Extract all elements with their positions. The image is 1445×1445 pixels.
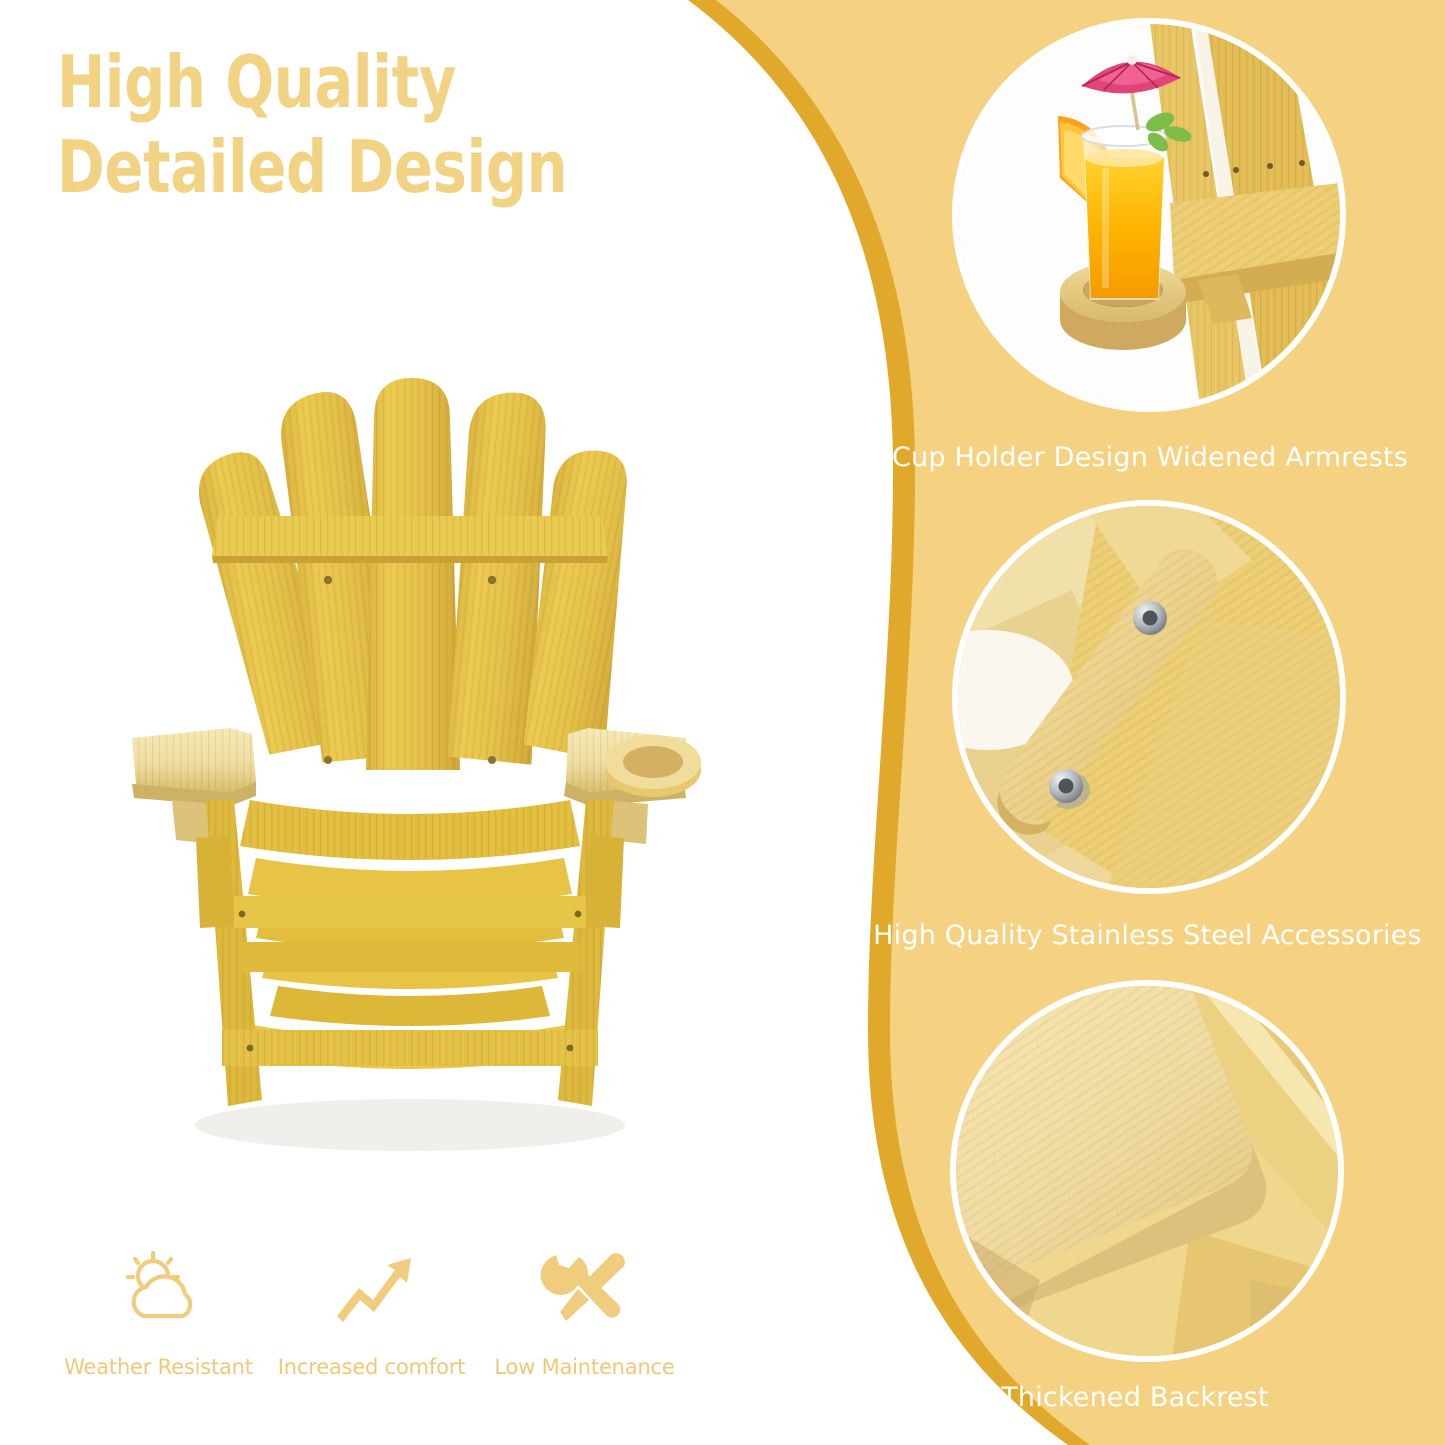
sun-cloud-icon	[116, 1245, 202, 1333]
inset-photo-thickened-backrest	[950, 980, 1344, 1362]
feature-label: Low Maintenance	[494, 1355, 674, 1379]
feature-item: Low Maintenance	[478, 1245, 691, 1379]
chair-left-armrest	[132, 728, 256, 844]
page-title: High Quality Detailed Design	[57, 40, 585, 210]
chair-backrest-slats	[192, 378, 662, 770]
inset-photo-cup-holder	[952, 18, 1346, 412]
cup-holder-ring	[605, 735, 701, 797]
feature-label: Weather Resistant	[64, 1355, 253, 1379]
inset-caption: Thickened Backrest	[900, 1382, 1370, 1413]
inset-photo-stainless-hardware	[952, 500, 1346, 894]
trend-arrow-icon	[329, 1245, 415, 1333]
chair-seat	[240, 800, 580, 1069]
feature-item: Increased comfort	[265, 1245, 478, 1379]
wrench-screwdriver-icon	[540, 1245, 630, 1333]
feature-benefit-row: Weather Resistant Increased comfort	[52, 1245, 692, 1405]
feature-label: Increased comfort	[278, 1355, 465, 1379]
inset-caption: Cup Holder Design Widened Armrests	[860, 442, 1440, 473]
inset-caption: High Quality Stainless Steel Accessories	[850, 920, 1445, 951]
feature-item: Weather Resistant	[52, 1245, 265, 1379]
poster-canvas: High Quality Detailed Design	[0, 0, 1445, 1445]
product-photo	[110, 330, 710, 1170]
chair-crossbar	[212, 516, 608, 563]
